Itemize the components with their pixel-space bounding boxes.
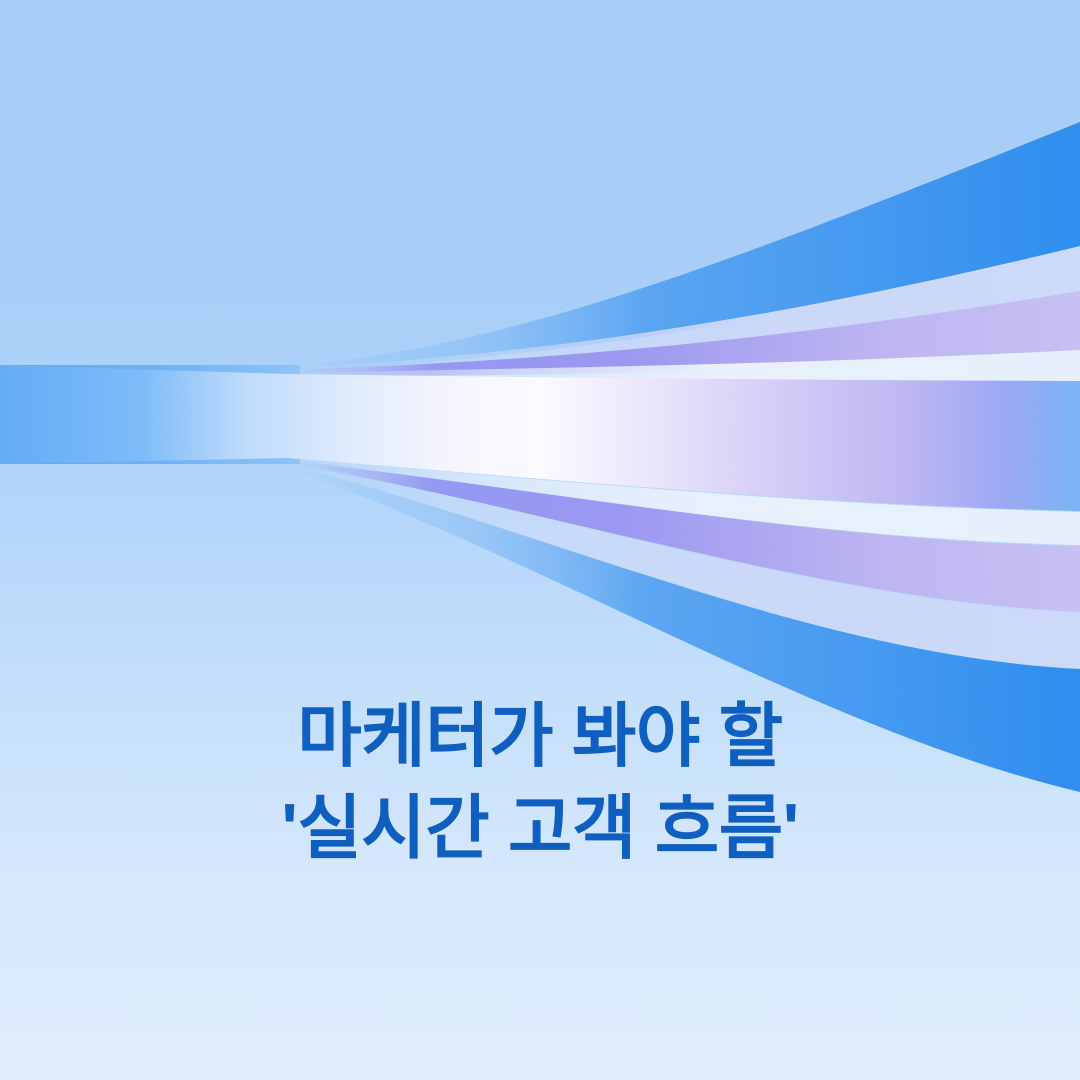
ribbon-flow-artwork <box>0 0 1080 1080</box>
headline-block: 마케터가 봐야 할 '실시간 고객 흐름' <box>0 690 1080 874</box>
headline-line-2: '실시간 고객 흐름' <box>0 782 1080 874</box>
headline-line-1: 마케터가 봐야 할 <box>0 690 1080 782</box>
poster-canvas: 마케터가 봐야 할 '실시간 고객 흐름' <box>0 0 1080 1080</box>
